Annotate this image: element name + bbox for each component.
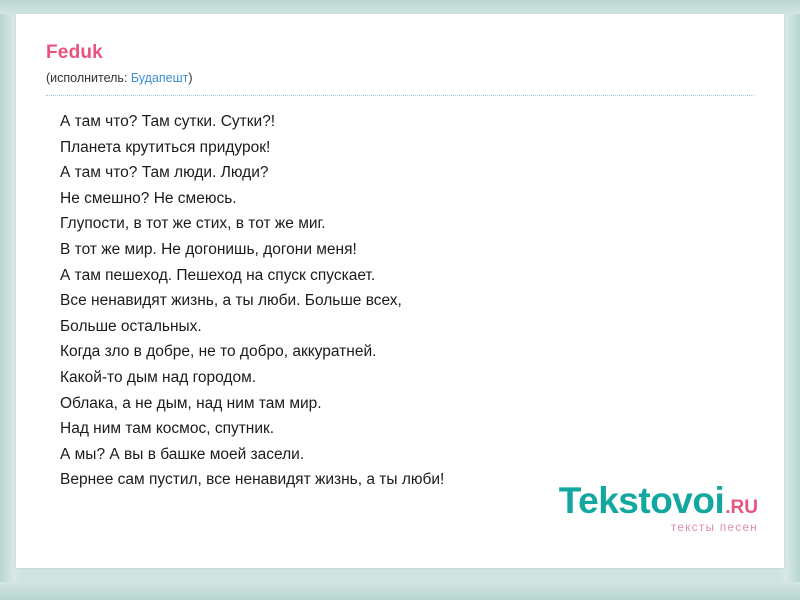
lyric-line: Глупости, в тот же стих, в тот же миг.: [60, 211, 784, 237]
watermark-brand: Tekstovoi: [559, 482, 724, 519]
site-watermark: Tekstovoi.RU тексты песен: [559, 482, 758, 535]
lyric-line: А мы? А вы в башке моей засели.: [60, 442, 784, 468]
lyric-line: А там пешеход. Пешеход на спуск спускает…: [60, 263, 784, 289]
card-header: Feduk (исполнитель: Будапешт): [16, 14, 784, 86]
watermark-tld: .RU: [725, 498, 758, 517]
lyric-line: Планета крутиться придурок!: [60, 135, 784, 161]
lyric-line: Когда зло в добре, не то добро, аккуратн…: [60, 339, 784, 365]
lyric-line: В тот же мир. Не догонишь, догони меня!: [60, 237, 784, 263]
frame-bottom-edge: [0, 582, 800, 600]
lyric-line: Все ненавидят жизнь, а ты люби. Больше в…: [60, 288, 784, 314]
performer-line: (исполнитель: Будапешт): [46, 71, 784, 86]
frame-top-edge: [0, 0, 800, 14]
lyrics-body: А там что? Там сутки. Сутки?! Планета кр…: [16, 96, 784, 493]
page-background: Feduk (исполнитель: Будапешт) А там что?…: [0, 0, 800, 600]
lyrics-card: Feduk (исполнитель: Будапешт) А там что?…: [16, 14, 784, 568]
watermark-tagline: тексты песен: [559, 523, 758, 535]
lyric-line: Не смешно? Не смеюсь.: [60, 186, 784, 212]
performer-link[interactable]: Будапешт: [131, 71, 188, 85]
lyric-line: Больше остальных.: [60, 314, 784, 340]
lyric-line: А там что? Там люди. Люди?: [60, 160, 784, 186]
lyric-line: Какой-то дым над городом.: [60, 365, 784, 391]
lyric-line: А там что? Там сутки. Сутки?!: [60, 109, 784, 135]
page-title: Feduk: [46, 42, 784, 64]
lyric-line: Над ним там космос, спутник.: [60, 416, 784, 442]
lyric-line: Облака, а не дым, над ним там мир.: [60, 391, 784, 417]
performer-suffix-label: ): [188, 71, 192, 85]
performer-prefix-label: (исполнитель:: [46, 71, 127, 85]
